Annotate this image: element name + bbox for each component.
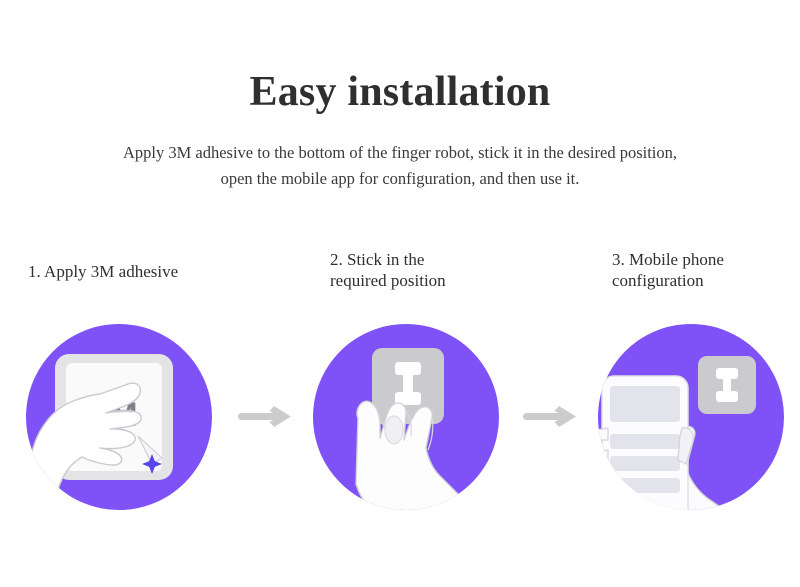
step-3-label: 3. Mobile phone configuration	[612, 250, 800, 291]
step-1-label: 1. Apply 3M adhesive	[28, 262, 278, 283]
step-3-illustration	[586, 318, 800, 548]
page-subtitle: Apply 3M adhesive to the bottom of the f…	[50, 140, 750, 191]
connector-arrow-1	[236, 402, 296, 432]
arrow-right-icon	[521, 402, 581, 432]
hand-pressing-finger-robot-icon	[300, 318, 530, 548]
app-header-block	[610, 386, 680, 422]
arrow-right-icon	[236, 402, 296, 432]
app-list-row	[610, 478, 680, 493]
subtitle-line-1: Apply 3M adhesive to the bottom of the f…	[50, 140, 750, 166]
page-title: Easy installation	[0, 68, 800, 116]
hand-holding-phone-icon	[586, 318, 800, 548]
step-2-illustration	[300, 318, 530, 548]
app-list-row	[610, 456, 680, 471]
easy-installation-infographic: Easy installation Apply 3M adhesive to t…	[0, 0, 800, 587]
connector-arrow-2	[521, 402, 581, 432]
app-list-row	[610, 434, 680, 449]
subtitle-line-2: open the mobile app for configuration, a…	[50, 166, 750, 192]
step-2-label: 2. Stick in the required position	[330, 250, 530, 291]
thumb-shape	[678, 428, 693, 464]
hand-peeling-3m-adhesive-icon: 3M	[10, 318, 240, 548]
hand-shape	[356, 401, 482, 532]
step-1-illustration: 3M	[10, 318, 240, 548]
